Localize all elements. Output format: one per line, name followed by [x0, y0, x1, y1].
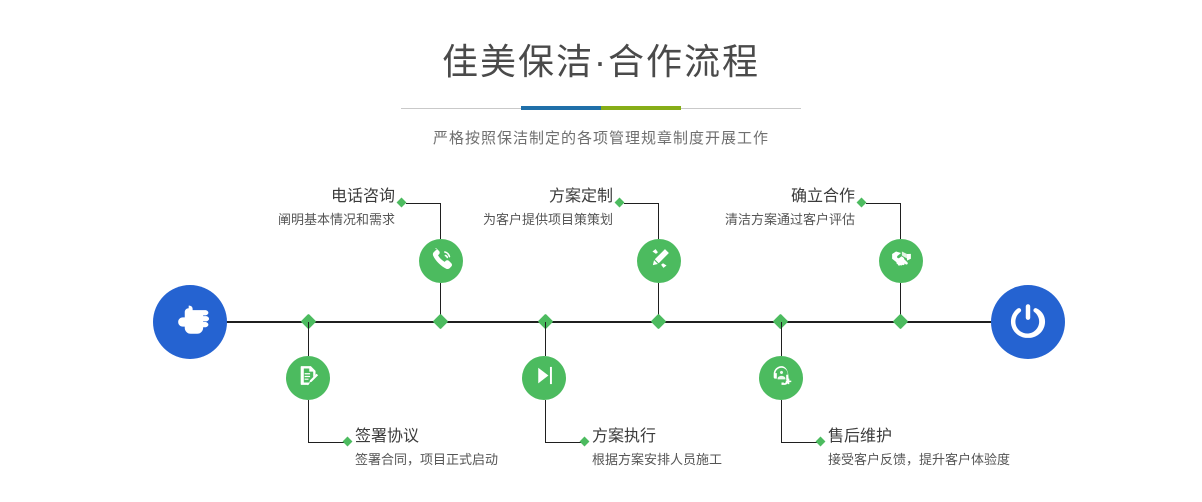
label-dot-5: [857, 198, 867, 208]
label-dot-1: [397, 198, 407, 208]
step-desc-5: 清洁方案通过客户评估: [670, 211, 855, 229]
pen-ruler-icon: [647, 246, 672, 276]
step-desc-1: 阐明基本情况和需求: [210, 211, 395, 229]
connector-label-down-3: [658, 203, 659, 239]
axis-marker-4: [651, 314, 667, 330]
axis-marker-2: [433, 314, 449, 330]
step-label-5: 确立合作 清洁方案通过客户评估: [670, 187, 855, 229]
page-header: 佳美保洁·合作流程 严格按照保洁制定的各项管理规章制度开展工作: [0, 0, 1202, 148]
axis-marker-6: [893, 314, 909, 330]
step-node-5: [879, 239, 923, 283]
handshake-icon: [889, 246, 914, 276]
timeline-start-endpoint: [153, 285, 227, 359]
connector-label-across-5: [866, 203, 901, 204]
document-edit-icon: [296, 363, 321, 393]
step-node-3: [637, 239, 681, 283]
step-desc-6: 接受客户反馈，提升客户体验度: [828, 451, 1088, 469]
step-node-2: [286, 356, 330, 400]
divider-accent-blue: [521, 106, 601, 110]
connector-label-across-4: [545, 442, 581, 443]
step-node-1: [419, 239, 463, 283]
step-desc-4: 根据方案安排人员施工: [592, 451, 812, 469]
step-node-6: [759, 356, 803, 400]
connector-label-across-3: [624, 203, 659, 204]
step-title-5: 确立合作: [670, 187, 855, 207]
step-label-3: 方案定制 为客户提供项目策策划: [428, 187, 613, 229]
connector-label-across-6: [781, 442, 817, 443]
label-dot-4: [580, 437, 590, 447]
step-title-6: 售后维护: [828, 427, 1088, 447]
flow-diagram-page: 佳美保洁·合作流程 严格按照保洁制定的各项管理规章制度开展工作: [0, 0, 1202, 502]
headset-add-icon: [769, 363, 794, 393]
connector-label-up-4: [545, 400, 546, 442]
connector-label-across-2: [308, 442, 344, 443]
pointing-hand-icon: [169, 299, 211, 346]
step-node-4: [522, 356, 566, 400]
step-title-1: 电话咨询: [210, 187, 395, 207]
title-divider: [401, 102, 801, 116]
step-label-2: 签署协议 签署合同，项目正式启动: [355, 427, 575, 469]
step-label-6: 售后维护 接受客户反馈，提升客户体验度: [828, 427, 1088, 469]
connector-node-axis-4: [545, 322, 546, 356]
phone-call-icon: [429, 246, 454, 276]
step-title-2: 签署协议: [355, 427, 575, 447]
connector-node-axis-2: [308, 322, 309, 356]
page-subtitle: 严格按照保洁制定的各项管理规章制度开展工作: [0, 127, 1202, 148]
connector-label-down-5: [900, 203, 901, 239]
step-desc-2: 签署合同，项目正式启动: [355, 451, 575, 469]
timeline-end-endpoint: [991, 285, 1065, 359]
divider-accent-green: [601, 106, 681, 110]
connector-label-up-2: [308, 400, 309, 442]
step-title-3: 方案定制: [428, 187, 613, 207]
page-title: 佳美保洁·合作流程: [0, 0, 1202, 80]
label-dot-6: [816, 437, 826, 447]
connector-label-up-6: [781, 400, 782, 442]
power-icon: [1007, 299, 1049, 346]
step-desc-3: 为客户提供项目策策划: [428, 211, 613, 229]
step-label-1: 电话咨询 阐明基本情况和需求: [210, 187, 395, 229]
label-dot-2: [343, 437, 353, 447]
connector-node-axis-6: [781, 322, 782, 356]
play-next-icon: [532, 363, 557, 393]
step-label-4: 方案执行 根据方案安排人员施工: [592, 427, 812, 469]
step-title-4: 方案执行: [592, 427, 812, 447]
label-dot-3: [615, 198, 625, 208]
